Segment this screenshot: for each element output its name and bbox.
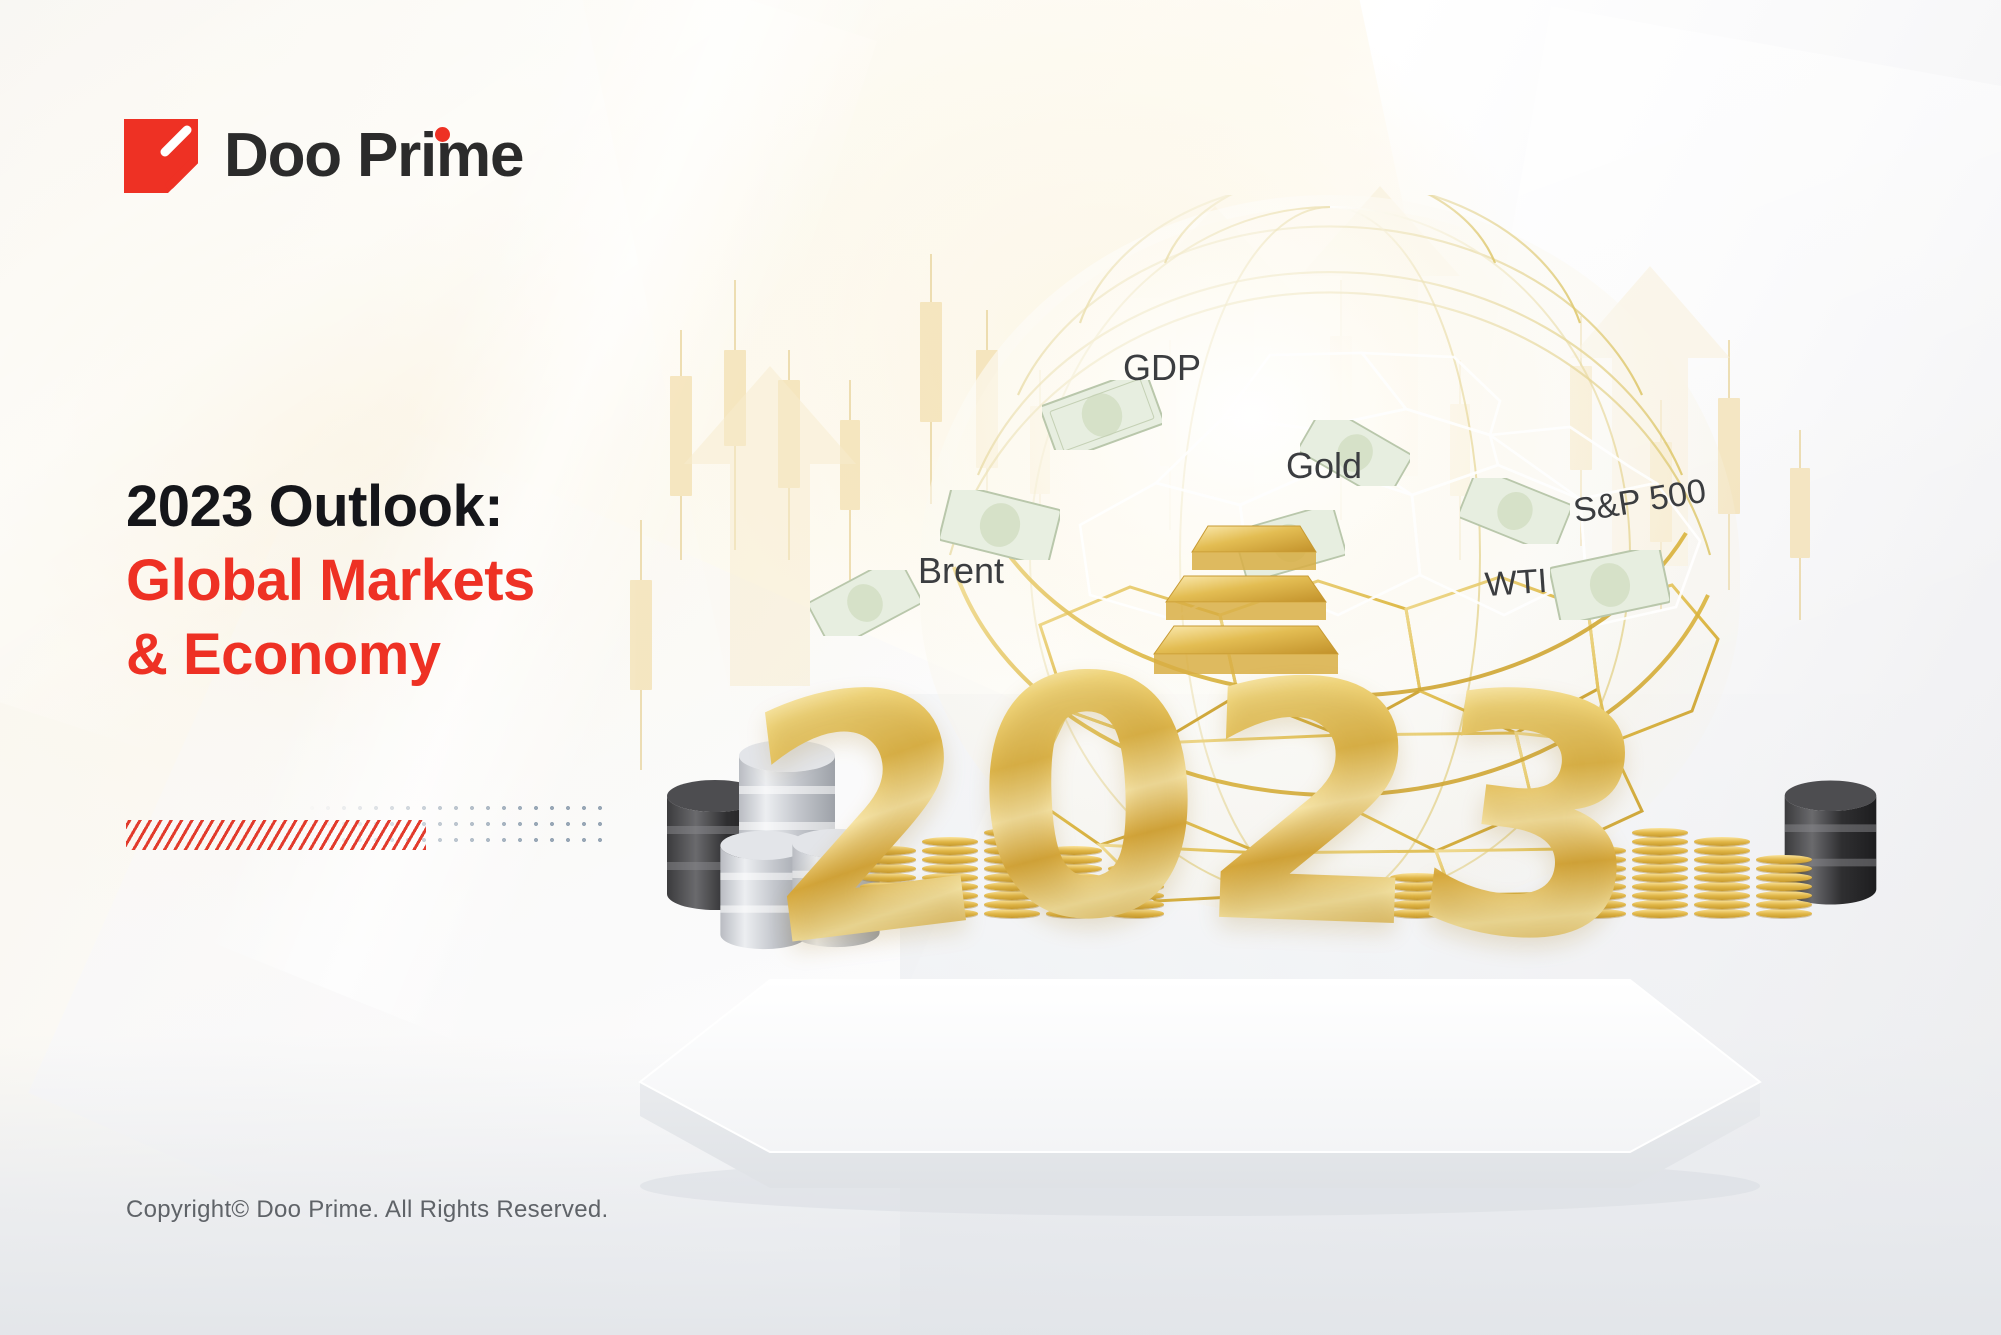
candle <box>1790 430 1810 620</box>
hero-illustration: 2 0 2 3 GDP Gold S&P 500 Brent WTI <box>690 30 1990 1240</box>
dollar-bill-icon <box>1550 550 1670 620</box>
year-digit: 3 <box>1402 667 1659 976</box>
year-2023-3d: 2 0 2 3 <box>750 615 1820 945</box>
headline-line-3: & Economy <box>126 618 746 692</box>
brand-logo[interactable]: Doo Prime <box>124 119 523 193</box>
year-digit: 2 <box>735 665 992 974</box>
brand-name: Doo Prime <box>224 125 523 187</box>
headline-block: 2023 Outlook: Global Markets & Economy <box>126 470 746 693</box>
dollar-bill-icon <box>1042 380 1162 450</box>
label-wti: WTI <box>1484 562 1549 605</box>
label-brent: Brent <box>918 550 1004 592</box>
headline-line-1: 2023 Outlook: <box>126 470 746 544</box>
label-gdp: GDP <box>1123 347 1201 389</box>
poster-canvas: 2 0 2 3 GDP Gold S&P 500 Brent WTI <box>0 0 2001 1335</box>
label-gold: Gold <box>1286 445 1362 487</box>
logo-accent-dot <box>435 127 450 142</box>
dollar-bill-icon <box>1460 478 1570 544</box>
decorative-divider <box>126 800 604 858</box>
copyright-text: Copyright© Doo Prime. All Rights Reserve… <box>126 1196 608 1224</box>
diagonal-stripe-pattern <box>126 820 426 850</box>
year-digit: 2 <box>1192 661 1425 952</box>
doo-prime-logo-mark-icon <box>124 119 198 193</box>
year-digit: 0 <box>969 655 1202 946</box>
headline-line-2: Global Markets <box>126 544 746 618</box>
